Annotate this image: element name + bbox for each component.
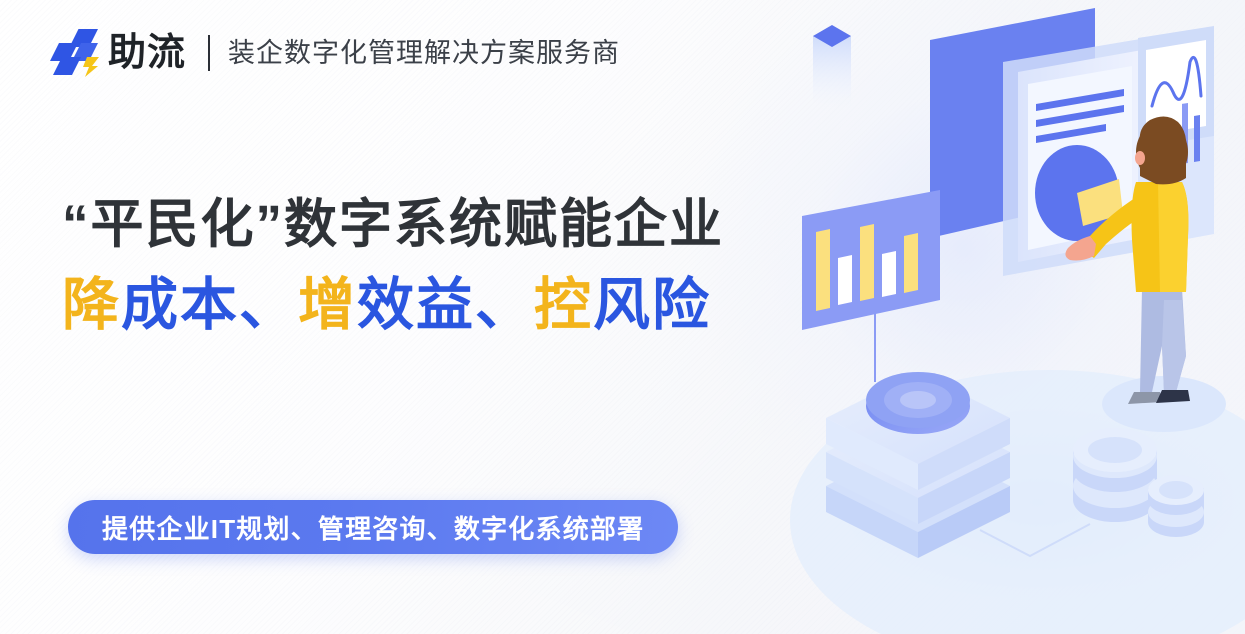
hero-headline: “平民化”数字系统赋能企业 降成本、增效益、控风险 bbox=[62, 192, 724, 342]
header-divider bbox=[208, 35, 210, 71]
headline-segment-6: 控 bbox=[534, 273, 593, 337]
headline-segment-7: 风险 bbox=[593, 273, 711, 337]
services-cta-button[interactable]: 提供企业IT规划、管理咨询、数字化系统部署 bbox=[68, 500, 678, 554]
brand-name: 助流 bbox=[108, 34, 186, 72]
floating-column bbox=[813, 25, 851, 108]
marketing-banner: 助流 装企数字化管理解决方案服务商 “平民化”数字系统赋能企业 降成本、增效益、… bbox=[0, 0, 1245, 634]
headline-segment-3: 增 bbox=[298, 273, 357, 337]
headline-line-2: 降成本、增效益、控风险 bbox=[62, 270, 724, 341]
brand-tagline: 装企数字化管理解决方案服务商 bbox=[228, 40, 620, 67]
headline-segment-5: 、 bbox=[475, 273, 534, 337]
headline-segment-2: 、 bbox=[239, 273, 298, 337]
headline-line-1: “平民化”数字系统赋能企业 bbox=[62, 192, 724, 258]
brand-header: 助流 装企数字化管理解决方案服务商 bbox=[48, 22, 620, 84]
pie-chart-screen bbox=[1018, 50, 1142, 262]
hero-illustration bbox=[790, 0, 1245, 634]
lightning-bolt-logo-icon bbox=[48, 25, 104, 81]
headline-segment-1: 成本 bbox=[121, 273, 239, 337]
headline-segment-0: 降 bbox=[62, 273, 121, 337]
headline-segment-4: 效益 bbox=[357, 273, 475, 337]
bar-chart-panel bbox=[802, 190, 940, 382]
